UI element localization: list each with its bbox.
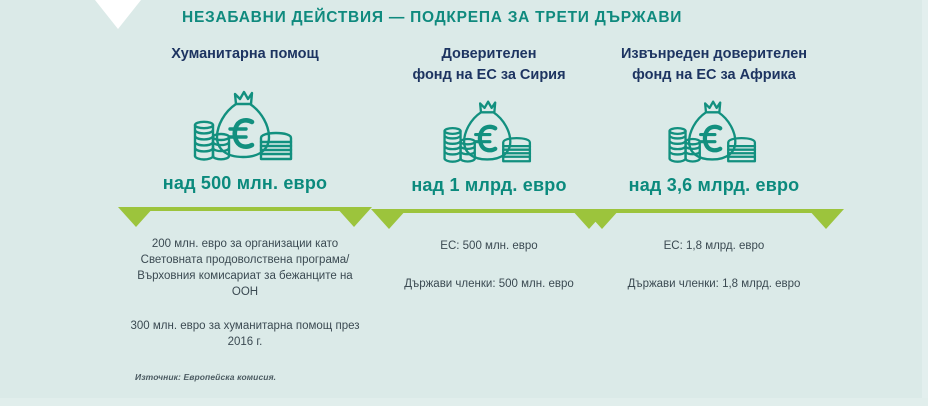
notes-list: ЕС: 500 млн. евро Държави членки: 500 мл…	[375, 238, 603, 292]
headline-figure: над 3,6 млрд. евро	[588, 174, 840, 196]
divider-arrow-right-icon	[808, 209, 844, 229]
green-divider	[588, 206, 840, 228]
column-heading-line: фонд на ЕС за Африка	[588, 65, 840, 86]
note-item: Държави членки: 1,8 млрд. евро	[588, 276, 840, 292]
note-item: 300 млн. евро за хуманитарна помощ през …	[122, 318, 368, 350]
source-note: Източник: Европейска комисия.	[135, 372, 276, 382]
chevron-down-marker-icon	[95, 0, 141, 29]
note-item: Държави членки: 500 млн. евро	[375, 276, 603, 292]
divider-arrow-left-icon	[371, 209, 407, 229]
column-heading: Извънреден доверителен фонд на ЕС за Афр…	[588, 44, 840, 86]
money-bag-euro-icon	[375, 86, 603, 166]
column-heading-line: Хуманитарна помощ	[122, 44, 368, 65]
column-eu-trust-fund-syria: Доверителен фонд на ЕС за Сирия	[375, 44, 603, 314]
divider-bar	[602, 209, 826, 213]
page-title: НЕЗАБАВНИ ДЕЙСТВИЯ — ПОДКРЕПА ЗА ТРЕТИ Д…	[182, 8, 822, 28]
column-heading: Хуманитарна помощ	[122, 44, 368, 65]
money-bag-euro-icon	[122, 84, 368, 164]
note-item: ЕС: 500 млн. евро	[375, 238, 603, 254]
column-heading-line: фонд на ЕС за Сирия	[375, 65, 603, 86]
column-humanitarian-aid: Хуманитарна помощ	[122, 44, 368, 368]
divider-arrow-right-icon	[336, 207, 372, 227]
column-eu-emergency-trust-fund-africa: Извънреден доверителен фонд на ЕС за Афр…	[588, 44, 840, 314]
note-item: ЕС: 1,8 млрд. евро	[588, 238, 840, 254]
note-item: 200 млн. евро за организации като Светов…	[122, 236, 368, 300]
divider-arrow-left-icon	[584, 209, 620, 229]
headline-figure: над 500 млн. евро	[122, 172, 368, 194]
infographic-canvas: НЕЗАБАВНИ ДЕЙСТВИЯ — ПОДКРЕПА ЗА ТРЕТИ Д…	[0, 0, 928, 406]
headline-figure: над 1 млрд. евро	[375, 174, 603, 196]
money-bag-euro-icon	[588, 86, 840, 166]
column-heading-line: Доверителен	[375, 44, 603, 65]
divider-bar	[389, 209, 589, 213]
notes-list: 200 млн. евро за организации като Светов…	[122, 236, 368, 350]
green-divider	[375, 206, 603, 228]
column-heading: Доверителен фонд на ЕС за Сирия	[375, 44, 603, 86]
columns-container: Хуманитарна помощ	[0, 44, 928, 364]
green-divider	[122, 204, 368, 226]
divider-arrow-left-icon	[118, 207, 154, 227]
notes-list: ЕС: 1,8 млрд. евро Държави членки: 1,8 м…	[588, 238, 840, 292]
bottom-edge-strip	[0, 398, 928, 406]
divider-bar	[136, 207, 354, 211]
column-heading-line: Извънреден доверителен	[588, 44, 840, 65]
